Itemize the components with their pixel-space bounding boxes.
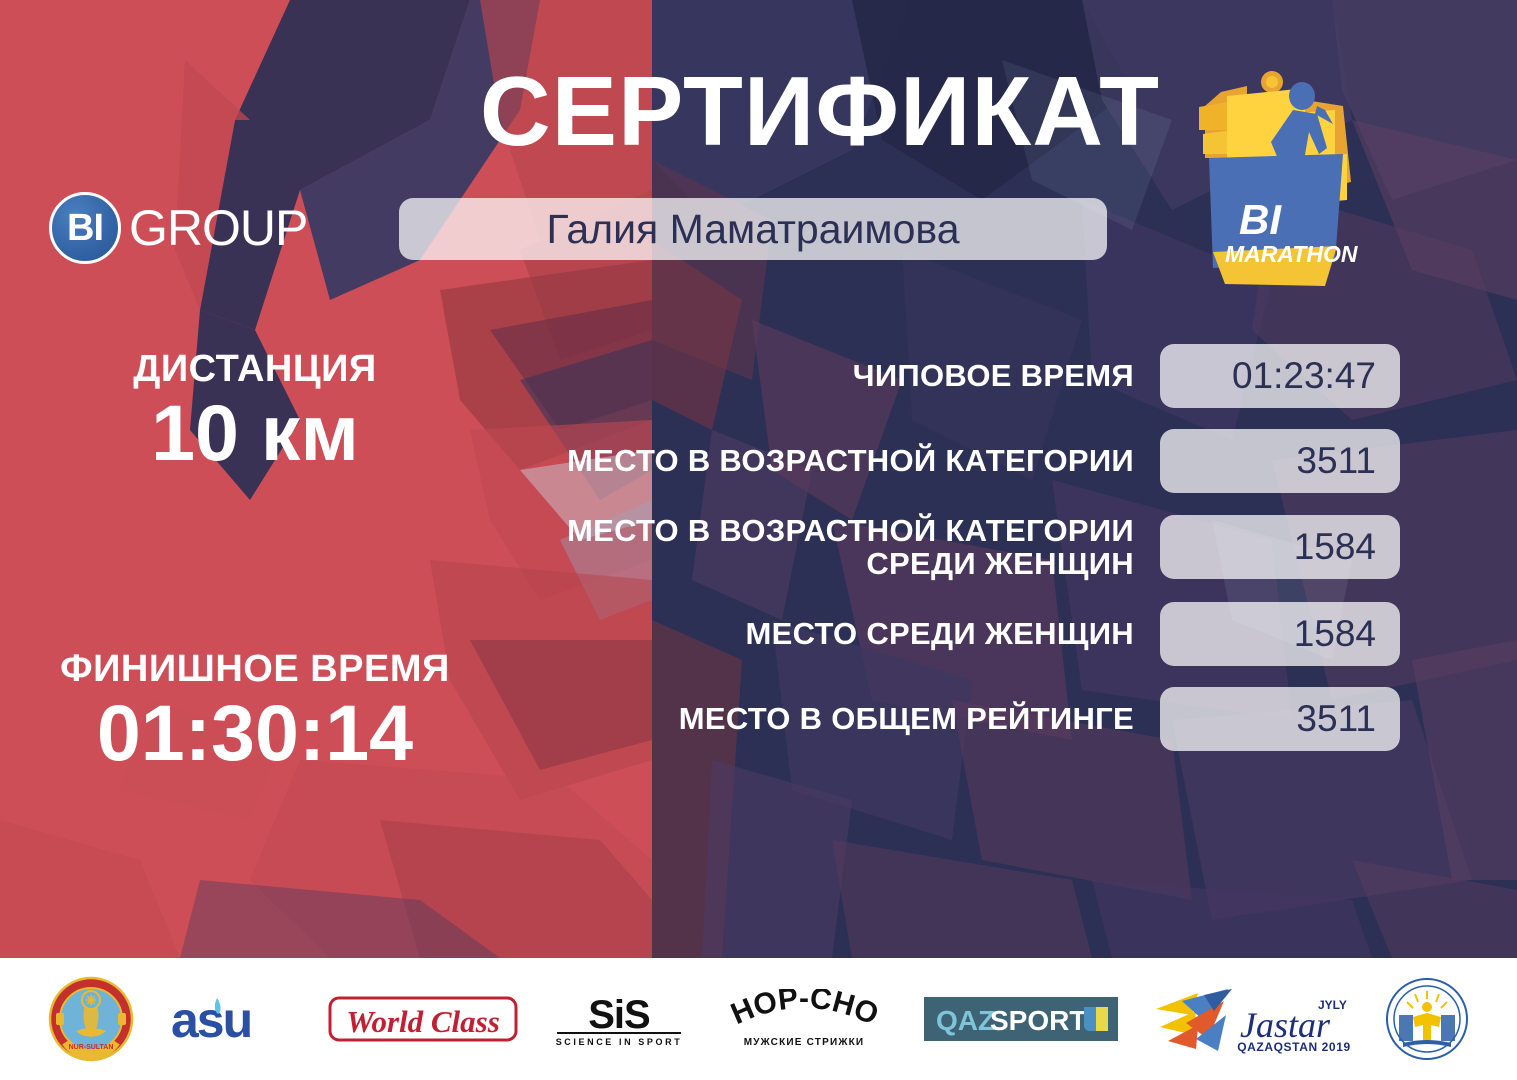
nur-sultan-emblem-icon: NUR-SULTAN [48,976,134,1062]
nur-sultan-label: NUR-SULTAN [69,1044,114,1051]
sis-tagline: SCIENCE IN SPORT [555,1037,682,1047]
bi-marathon-logo-graphic: BI MARATHON [1185,62,1390,294]
asu-wordmark: asu [171,992,251,1048]
world-class-logo-icon: World Class [328,992,518,1046]
result-value: 1584 [1160,602,1400,666]
result-label: МЕСТО В ОБЩЕМ РЕЙТИНГЕ [520,702,1160,735]
chop-chop-tagline: МУЖСКИЕ СТРИЖКИ [744,1037,865,1048]
jastar-jyly-logo-icon: Jastar JYLY QAZAQSTAN 2019 [1152,983,1350,1055]
jastar-superscript: JYLY [1318,998,1347,1012]
result-value: 1584 [1160,515,1400,579]
page-title: СЕРТИФИКАТ [0,62,1160,160]
sponsor-nur-sultan: NUR-SULTAN [48,976,134,1062]
bi-group-wordmark: GROUP [129,203,307,253]
result-label: МЕСТО СРЕДИ ЖЕНЩИН [520,617,1160,650]
bi-group-mark-icon: BI [49,192,121,264]
world-class-wordmark: World Class [346,1004,500,1039]
results-list: ЧИПОВОЕ ВРЕМЯ 01:23:47 МЕСТО В ВОЗРАСТНО… [520,344,1400,772]
sponsor-world-class: World Class [328,992,518,1046]
result-value: 3511 [1160,687,1400,751]
result-label: МЕСТО В ВОЗРАСТНОЙ КАТЕГОРИИ СРЕДИ ЖЕНЩИ… [520,514,1160,581]
result-row: МЕСТО В ОБЩЕМ РЕЙТИНГЕ 3511 [520,687,1400,751]
result-row: ЧИПОВОЕ ВРЕМЯ 01:23:47 [520,344,1400,408]
sis-logo-icon: SiS SCIENCE IN SPORT [553,990,685,1048]
bi-marathon-line1: BI [1239,196,1282,243]
ministry-emblem-icon [1385,977,1469,1061]
sponsor-footer: NUR-SULTAN asu World Class SiS SCIENCE I… [0,958,1517,1080]
sponsor-qazsport: QAZ SPORT [924,997,1118,1041]
finish-time-block: ФИНИШНОЕ ВРЕМЯ 01:30:14 [35,650,475,775]
sponsor-sis: SiS SCIENCE IN SPORT [553,990,685,1048]
result-row: МЕСТО СРЕДИ ЖЕНЩИН 1584 [520,602,1400,666]
finish-time-value: 01:30:14 [35,692,475,775]
result-value: 01:23:47 [1160,344,1400,408]
bi-group-mark-text: BI [67,209,103,247]
result-value: 3511 [1160,429,1400,493]
result-row: МЕСТО В ВОЗРАСТНОЙ КАТЕГОРИИ СРЕДИ ЖЕНЩИ… [520,514,1400,581]
asu-logo-icon: asu [169,990,294,1048]
result-label: МЕСТО В ВОЗРАСТНОЙ КАТЕГОРИИ [520,444,1160,477]
participant-name-banner: Галия Маматраимова [399,198,1107,260]
chop-chop-logo-icon: CHOP-CHOP МУЖСКИЕ СТРИЖКИ [719,989,889,1049]
bi-marathon-logo: BI MARATHON [1185,62,1390,294]
qazsport-wordmark-b: SPORT [990,1005,1086,1036]
result-label: ЧИПОВОЕ ВРЕМЯ [520,359,1160,392]
participant-name: Галия Маматраимова [546,209,959,250]
sis-wordmark: SiS [588,993,650,1037]
qazsport-logo-icon: QAZ SPORT [924,997,1118,1041]
sponsor-ministry [1385,977,1469,1061]
chop-chop-wordmark: CHOP-CHOP [719,989,883,1032]
certificate-canvas: СЕРТИФИКАТ Галия Маматраимова BI GROUP [0,0,1517,1080]
bi-group-logo: BI GROUP [49,192,307,264]
result-row: МЕСТО В ВОЗРАСТНОЙ КАТЕГОРИИ 3511 [520,429,1400,493]
sponsor-jastar-jyly: Jastar JYLY QAZAQSTAN 2019 [1152,983,1350,1055]
distance-label: ДИСТАНЦИЯ [35,350,475,390]
qazsport-wordmark-a: QAZ [936,1005,995,1036]
jastar-subtitle: QAZAQSTAN 2019 [1238,1040,1351,1054]
finish-time-label: ФИНИШНОЕ ВРЕМЯ [35,650,475,690]
sponsor-asu: asu [169,990,294,1048]
distance-block: ДИСТАНЦИЯ 10 км [35,350,475,475]
bi-marathon-line2: MARATHON [1225,241,1358,267]
distance-value: 10 км [35,392,475,475]
svg-text:CHOP-CHOP: CHOP-CHOP [719,989,883,1032]
sponsor-chop-chop: CHOP-CHOP МУЖСКИЕ СТРИЖКИ [719,989,889,1049]
